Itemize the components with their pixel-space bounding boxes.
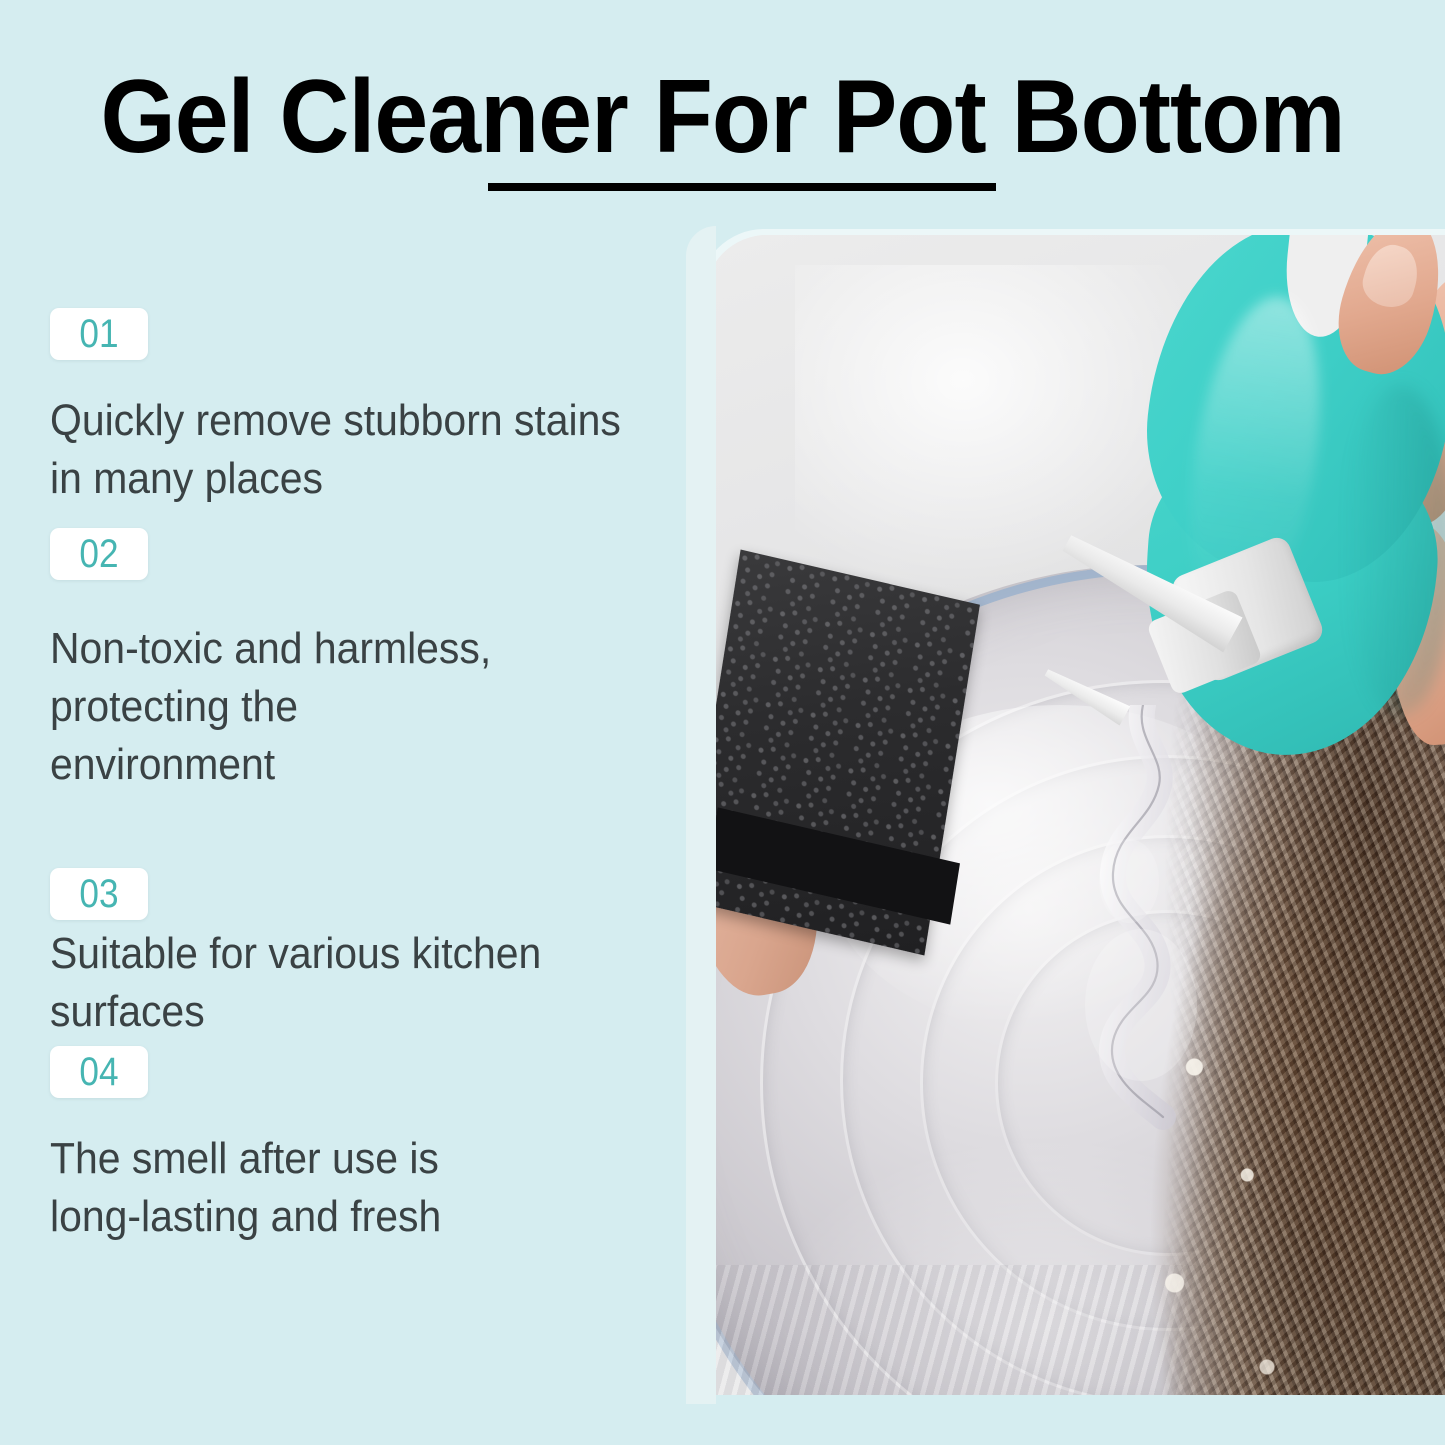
feature-number-01: 01	[56, 308, 142, 360]
feature-badge-01: 01	[50, 308, 148, 360]
photo-left-edge-strip	[705, 235, 716, 1395]
feature-text-01: Quickly remove stubborn stains in many p…	[50, 392, 650, 508]
feature-number-04: 04	[56, 1046, 142, 1098]
feature-badge-04: 04	[50, 1046, 148, 1098]
product-photo	[705, 235, 1445, 1395]
gel-drip	[995, 705, 1295, 1135]
product-infographic-poster: Gel Cleaner For Pot Bottom 01 Quickly re…	[0, 0, 1445, 1445]
feature-text-03: Suitable for various kitchen surfaces	[50, 925, 650, 1041]
feature-number-02: 02	[56, 528, 142, 580]
feature-badge-03: 03	[50, 868, 148, 920]
feature-text-02: Non-toxic and harmless, protecting the e…	[50, 620, 650, 794]
bottle-shading	[1345, 385, 1445, 715]
feature-text-04: The smell after use is long-lasting and …	[50, 1130, 650, 1246]
feature-number-03: 03	[56, 868, 142, 920]
feature-list: 01 Quickly remove stubborn stains in man…	[0, 0, 700, 1445]
feature-badge-02: 02	[50, 528, 148, 580]
